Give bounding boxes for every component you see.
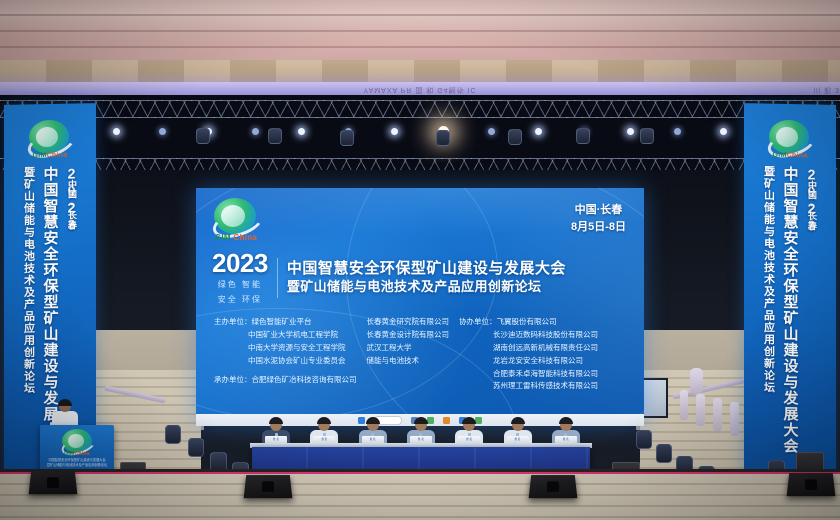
coorganizer-item: 合肥泰禾卓海智能科技有限公司 [459,368,632,381]
baluster [730,402,739,436]
undertaker-name: 合肥绿色矿冶科技咨询有限公司 [252,375,357,384]
logo-text-sub: China [74,451,89,457]
moving-head-light [340,130,354,146]
main-led-screen: GIM China 中国·长春 8月5日-8日 2023 绿色 智能 安全 环保… [196,188,644,426]
event-year: 2023 [212,250,268,276]
logo-text-sub: China [787,152,808,159]
organizers-block: 主办单位：绿色智能矿业平台 中国矿业大学机电工程学院 中南大学资源与安全工程学院… [214,316,632,393]
ceiling-strip-text-right: 川 彩 3 [0,83,840,95]
coorganizer-item: 龙岩龙安安全科技有限公司 [459,355,632,368]
host-column-1: 主办单位：绿色智能矿业平台 中国矿业大学机电工程学院 中南大学资源与安全工程学院… [214,316,357,393]
host-label: 主办单位： [214,316,252,329]
coorganizer-item: 湖南创远高新机械有限责任公司 [459,342,632,355]
floor-steps [0,474,840,520]
gim-china-logo-text: GIM China [210,233,262,242]
moving-head-light [196,128,210,144]
baluster [696,394,705,426]
undertaker-label: 承办单位： [214,374,252,387]
host-item: 长春黄金研究院有限公司 [367,316,450,329]
coorganizer-item: 飞翼股份有限公司 [497,317,557,326]
host-item: 储能与电池技术 [367,355,450,368]
lighting-truss-upper [0,100,840,118]
conference-stage-photo: YAMAXA PR 国 和 G4制作 IC 川 彩 3 [0,0,840,520]
ceiling [0,0,840,60]
title-divider [277,258,278,298]
moving-head-light [268,128,282,144]
host-column-2: 长春黄金研究院有限公司 长春黄金设计院有限公司 武汉工程大学 储能与电池技术 [367,316,450,393]
baluster [713,398,722,431]
lamp-row-upper [0,124,840,138]
coorganizer-item: 长沙迪迈数码科技股份有限公司 [459,329,632,342]
banner-location-left: 中国·长春 [64,179,78,230]
podium-caption-2: 暨矿山储能与电池技术及产品应用创新论坛 [40,463,114,468]
gim-china-logo: GIMChina [26,120,74,163]
coorganizer-label: 协办单位： [459,316,497,329]
event-dates: 8月5日-8日 [571,219,626,236]
host-item: 武汉工程大学 [367,342,450,355]
event-slogan-line1: 绿色 智能 [212,279,268,291]
stage-monitor-speaker [529,475,578,498]
moving-head-light [508,129,522,145]
logo-text-sub: China [47,152,68,159]
gim-china-logo: GIMChina [766,120,814,163]
logo-text-main: GIM [215,233,231,242]
stage-monitor-speaker [29,471,78,494]
event-location: 中国·长春 [571,202,626,219]
banner-subtitle-right: 暨矿山储能与电池技术及产品应用创新论坛 [761,165,777,503]
host-item: 长春黄金设计院有限公司 [367,329,450,342]
logo-text-main: GIM [772,152,786,159]
banner-location-right: 中国·长春 [804,180,818,231]
gim-china-logo: GIM China [210,198,262,244]
coorganizer-column: 协办单位：飞翼股份有限公司 长沙迪迈数码科技股份有限公司 湖南创远高新机械有限责… [459,316,632,393]
logo-text-main: GIM [32,152,46,159]
floor-moving-head-light [188,438,204,457]
logo-text-main: GIM [64,451,74,457]
conference-title: 中国智慧安全环保型矿山建设与发展大会 [287,260,630,279]
baluster [680,390,688,420]
coorganizer-item: 苏州理工雷科传感技术有限公司 [459,380,632,393]
floor-moving-head-light [636,430,652,449]
logo-text-sub: China [233,233,257,242]
year-block: 2023 绿色 智能 安全 环保 [212,250,268,306]
host-item: 中国水泥协会矿山专业委员会 [214,355,357,368]
vertical-banner-right: GIMChina 2023 中国智慧安全环保型矿山建设与发展大会 暨矿山储能与电… [744,103,836,505]
floor-moving-head-light [656,444,672,463]
host-item: 绿色智能矿业平台 [252,317,312,326]
event-location-block: 中国·长春 8月5日-8日 [571,202,626,236]
event-slogan-line2: 安全 环保 [212,294,268,306]
main-title-row: 2023 绿色 智能 安全 环保 中国智慧安全环保型矿山建设与发展大会 暨矿山储… [212,250,630,306]
newel-post [690,368,703,394]
moving-head-light [436,130,450,146]
marble-cornice-band [0,60,840,82]
stage-monitor-speaker [787,473,836,496]
banner-subtitle-left: 暨矿山储能与电池技术及产品应用创新论坛 [21,166,37,504]
conference-subtitle: 暨矿山储能与电池技术及产品应用创新论坛 [287,279,630,296]
moving-head-light [640,128,654,144]
host-item: 中南大学资源与安全工程学院 [214,342,357,355]
floor-moving-head-light [165,425,181,444]
host-item: 中国矿业大学机电工程学院 [214,329,357,342]
stage-monitor-speaker [244,475,293,498]
gim-china-logo: GIMChina [60,429,94,457]
moving-head-light [576,128,590,144]
title-texts: 中国智慧安全环保型矿山建设与发展大会 暨矿山储能与电池技术及产品应用创新论坛 [287,260,630,296]
